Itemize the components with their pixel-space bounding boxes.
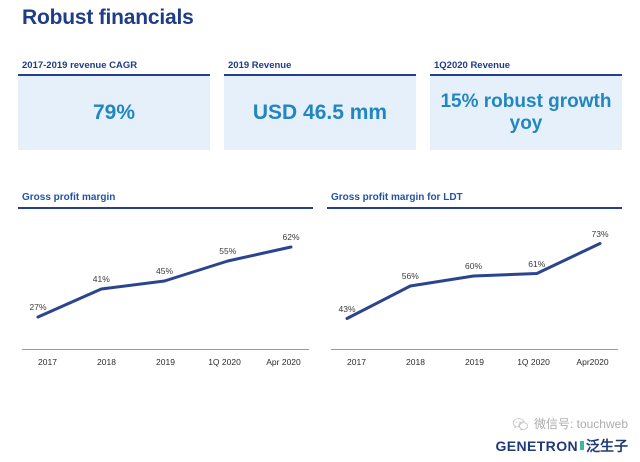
stat-card-revenue-cagr: 2017-2019 revenue CAGR 79% xyxy=(18,60,210,150)
stat-card-value: 79% xyxy=(93,101,135,125)
wechat-watermark: 微信号: touchweb xyxy=(512,415,628,432)
charts-row: Gross profit margin 27%41%45%55%62% 2017… xyxy=(18,192,622,367)
chart-x-tick: 2019 xyxy=(136,357,195,367)
stat-card-value: USD 46.5 mm xyxy=(253,101,387,125)
chart-x-tick: 2018 xyxy=(77,357,136,367)
stat-card-1q2020-revenue: 1Q2020 Revenue 15% robust growth yoy xyxy=(430,60,622,150)
chart-x-tick: Apr 2020 xyxy=(254,357,313,367)
chart-plot-area: 43%56%60%61%73% xyxy=(327,209,622,349)
chart-gross-profit-margin-ldt: Gross profit margin for LDT 43%56%60%61%… xyxy=(327,192,622,367)
chart-x-tick: 2018 xyxy=(386,357,445,367)
stat-card-header: 1Q2020 Revenue xyxy=(430,60,622,74)
chart-point-label: 60% xyxy=(465,261,482,271)
stat-card-value: 15% robust growth yoy xyxy=(436,91,616,135)
chart-point-label: 62% xyxy=(282,232,299,242)
chart-x-tick: 2017 xyxy=(327,357,386,367)
chart-point-label: 27% xyxy=(29,302,46,312)
chart-point-label: 45% xyxy=(156,266,173,276)
stat-card-header: 2017-2019 revenue CAGR xyxy=(18,60,210,74)
chart-point-label: 41% xyxy=(93,274,110,284)
stat-card-body: 15% robust growth yoy xyxy=(430,76,622,150)
chart-point-label: 73% xyxy=(591,229,608,239)
logo-chinese-name: 泛生子 xyxy=(586,436,628,456)
chart-point-label: 61% xyxy=(528,259,545,269)
chart-series-line xyxy=(38,247,291,317)
chart-plot-area: 27%41%45%55%62% xyxy=(18,209,313,349)
chart-gross-profit-margin: Gross profit margin 27%41%45%55%62% 2017… xyxy=(18,192,313,367)
chart-point-label: 43% xyxy=(338,304,355,314)
watermark-text: 微信号: touchweb xyxy=(534,415,628,432)
logo-wordmark: GENETRON xyxy=(495,438,578,454)
chart-x-tick: 1Q 2020 xyxy=(504,357,563,367)
chart-title: Gross profit margin for LDT xyxy=(327,192,622,207)
chart-line-svg xyxy=(327,209,622,349)
stat-card-header: 2019 Revenue xyxy=(224,60,416,74)
stat-card-body: 79% xyxy=(18,76,210,150)
stat-card-2019-revenue: 2019 Revenue USD 46.5 mm xyxy=(224,60,416,150)
chart-title: Gross profit margin xyxy=(18,192,313,207)
stat-card-body: USD 46.5 mm xyxy=(224,76,416,150)
stat-cards-row: 2017-2019 revenue CAGR 79% 2019 Revenue … xyxy=(18,60,622,150)
page-title: Robust financials xyxy=(22,6,194,30)
chart-x-tick: Apr2020 xyxy=(563,357,622,367)
chart-x-tick: 2019 xyxy=(445,357,504,367)
genetron-logo: GENETRON 泛生子 xyxy=(495,436,628,456)
chart-series-line xyxy=(347,244,600,319)
wechat-icon xyxy=(512,417,529,431)
logo-mark-icon xyxy=(580,441,584,450)
chart-x-tick: 1Q 2020 xyxy=(195,357,254,367)
chart-x-tick-labels: 2017201820191Q 2020Apr 2020 xyxy=(18,350,313,367)
chart-point-label: 55% xyxy=(219,246,236,256)
chart-x-tick-labels: 2017201820191Q 2020Apr2020 xyxy=(327,350,622,367)
chart-x-tick: 2017 xyxy=(18,357,77,367)
chart-line-svg xyxy=(18,209,313,349)
chart-point-label: 56% xyxy=(402,271,419,281)
